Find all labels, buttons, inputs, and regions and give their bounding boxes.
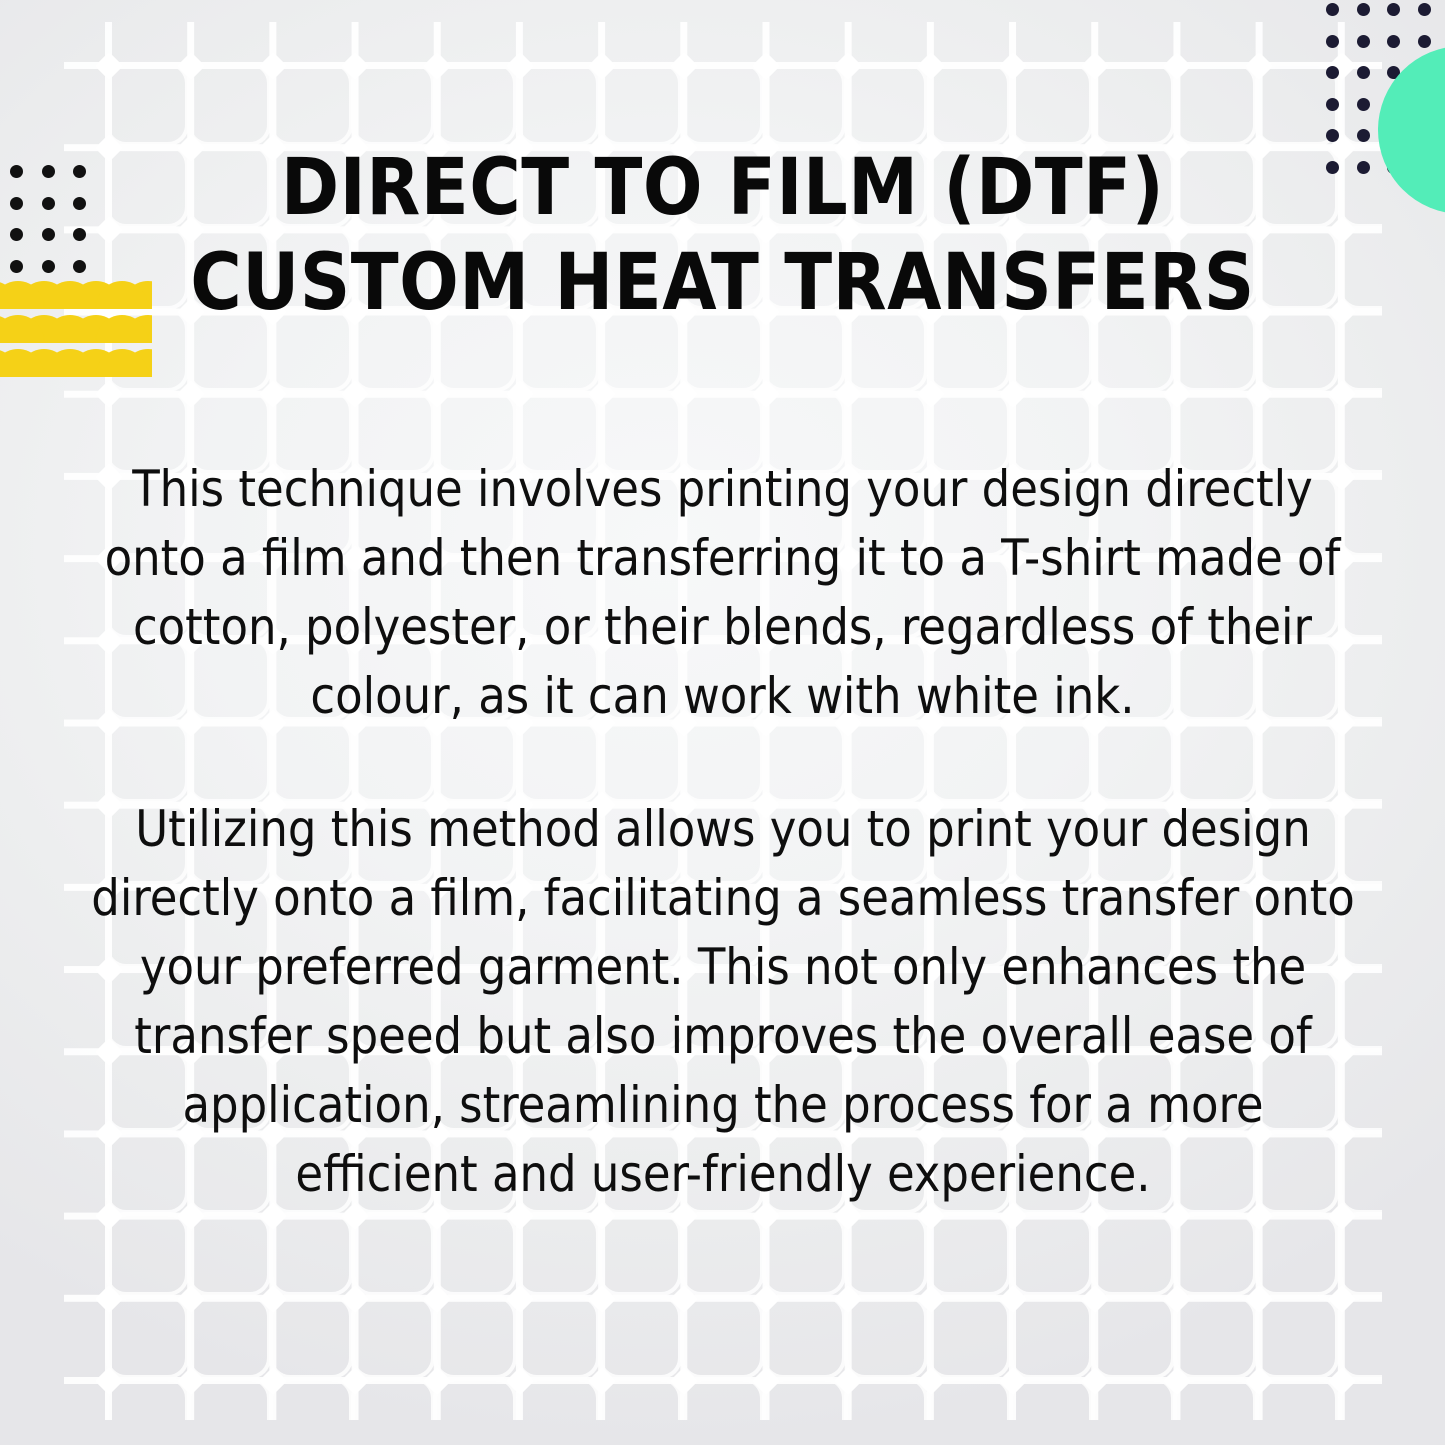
title-line-2: CUSTOM HEAT TRANSFERS	[0, 236, 1445, 331]
title-line-1: DIRECT TO FILM (DTF)	[0, 141, 1445, 236]
poster-canvas: DIRECT TO FILM (DTF) CUSTOM HEAT TRANSFE…	[0, 0, 1445, 1445]
page-title: DIRECT TO FILM (DTF) CUSTOM HEAT TRANSFE…	[0, 141, 1445, 331]
poster-content: DIRECT TO FILM (DTF) CUSTOM HEAT TRANSFE…	[0, 0, 1445, 1445]
body-paragraph-1: This technique involves printing your de…	[95, 455, 1350, 731]
body-paragraph-2: Utilizing this method allows you to prin…	[88, 795, 1358, 1209]
